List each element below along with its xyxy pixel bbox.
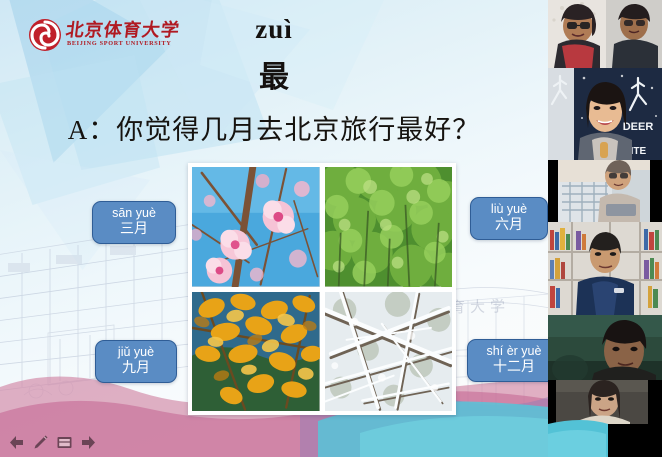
arrow-right-icon[interactable] bbox=[80, 434, 97, 451]
month-chip-march[interactable]: sān yuè 三月 bbox=[92, 201, 176, 244]
month-chip-september[interactable]: jiǔ yuè 九月 bbox=[95, 340, 177, 383]
slide-panel-icon[interactable] bbox=[56, 434, 73, 451]
presentation-slide[interactable]: 体育大学 北京体育大学 BEIJING SPORT UNIVERSITY bbox=[0, 0, 548, 457]
photo-green-forest-summer bbox=[325, 167, 453, 287]
pinyin-title: zuì bbox=[0, 14, 548, 45]
video-tile-participant-0[interactable] bbox=[548, 0, 662, 68]
chip-hanzi: 三月 bbox=[101, 221, 167, 238]
month-chip-june[interactable]: liù yuè 六月 bbox=[470, 197, 548, 240]
question-line: A：你觉得几月去北京旅行最好？ bbox=[0, 108, 548, 147]
screen-share-window: 体育大学 北京体育大学 BEIJING SPORT UNIVERSITY bbox=[0, 0, 662, 457]
season-photo-grid bbox=[188, 163, 456, 415]
chip-pinyin: liù yuè bbox=[479, 202, 539, 217]
chip-pinyin: shí èr yuè bbox=[476, 344, 548, 359]
chip-hanzi: 十二月 bbox=[476, 359, 548, 376]
photo-cherry-blossom-spring bbox=[192, 167, 320, 287]
month-chip-december[interactable]: shí èr yuè 十二月 bbox=[467, 339, 548, 382]
photo-snowy-branches-winter bbox=[325, 292, 453, 412]
chip-pinyin: sān yuè bbox=[101, 206, 167, 221]
pencil-icon[interactable] bbox=[32, 434, 49, 451]
chip-hanzi: 九月 bbox=[104, 360, 168, 377]
participant-video-rail[interactable]: DEER WINTE bbox=[548, 0, 662, 457]
presenter-toolbar[interactable] bbox=[4, 431, 101, 453]
photo-golden-leaves-autumn bbox=[192, 292, 320, 412]
chip-pinyin: jiǔ yuè bbox=[104, 345, 168, 360]
video-tile-participant-1[interactable]: DEER WINTE bbox=[548, 68, 662, 160]
chip-hanzi: 六月 bbox=[479, 217, 539, 234]
video-tile-participant-3[interactable] bbox=[548, 222, 662, 315]
video-tile-participant-2[interactable] bbox=[548, 160, 662, 222]
video-tile-participant-4[interactable] bbox=[548, 315, 662, 380]
arrow-left-icon[interactable] bbox=[8, 434, 25, 451]
hanzi-title: 最 bbox=[0, 52, 548, 96]
video-tile-participant-5[interactable] bbox=[548, 380, 662, 457]
svg-text:DEER: DEER bbox=[623, 121, 654, 133]
